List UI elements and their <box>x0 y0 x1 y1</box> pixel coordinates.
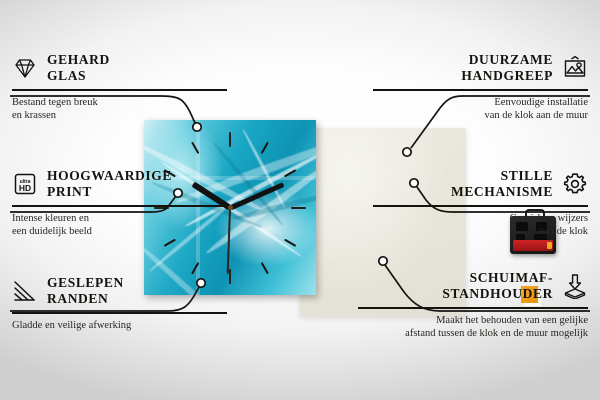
feature-title: GEHARD GLAS <box>47 52 110 84</box>
feature-desc-line2: van de klok <box>373 225 588 239</box>
feature-desc-line1: Bestand tegen breuk <box>12 96 227 110</box>
press-down-pad-icon <box>562 273 588 299</box>
feature-desc-line1: Gladde en veilige afwerking <box>12 319 227 333</box>
diamond-icon <box>12 55 38 81</box>
feature-title-line1: GESLEPEN <box>47 275 124 291</box>
feature-header: GEHARD GLAS <box>12 52 227 84</box>
feature-desc-line1: Eenvoudige installatie <box>373 96 588 110</box>
feature-title-line1: STILLE <box>451 168 553 184</box>
feature-hoogwaardige-print: ultra HD HOOGWAARDIGE PRINT Intense kleu… <box>12 168 227 239</box>
feature-title-line1: SCHUIMAF- <box>442 270 553 286</box>
feature-desc-line2: en krassen <box>12 109 227 123</box>
feature-header: STILLE MECHANISME <box>373 168 588 200</box>
feature-title: SCHUIMAF- STANDHOUDER <box>442 270 553 302</box>
feature-description: Gladde en veilige afwerking <box>12 319 227 333</box>
feature-divider <box>373 205 588 207</box>
feature-header: GESLEPEN RANDEN <box>12 275 227 307</box>
picture-frame-icon <box>562 55 588 81</box>
feature-gehard-glas: GEHARD GLAS Bestand tegen breuk en krass… <box>12 52 227 123</box>
feature-divider <box>12 205 227 207</box>
bevelled-edge-icon <box>12 278 38 304</box>
gear-icon <box>562 171 588 197</box>
feature-title-line2: MECHANISME <box>451 184 553 200</box>
clock-tick <box>230 207 306 209</box>
feature-geslepen-randen: GESLEPEN RANDEN Gladde en veilige afwerk… <box>12 275 227 332</box>
feature-title: DUURZAME HANDGREEP <box>461 52 553 84</box>
feature-header: DUURZAME HANDGREEP <box>373 52 588 84</box>
feature-title-line2: HANDGREEP <box>461 68 553 84</box>
infographic-canvas: GEHARD GLAS Bestand tegen breuk en krass… <box>0 0 600 400</box>
feature-desc-line1: Intense kleuren en <box>12 212 227 226</box>
feature-divider <box>12 89 227 91</box>
feature-title-line2: RANDEN <box>47 291 124 307</box>
feature-description: Geruisloze wijzers van de klok <box>373 212 588 239</box>
feature-stille-mechanisme: STILLE MECHANISME Geruisloze wijzers van… <box>373 168 588 239</box>
feature-divider <box>12 312 227 314</box>
feature-desc-line1: Maakt het behouden van een gelijke <box>358 314 588 328</box>
feature-duurzame-handgreep: DUURZAME HANDGREEP Eenvoudige installati… <box>373 52 588 123</box>
feature-title-line2: PRINT <box>47 184 172 200</box>
ultra-hd-icon: ultra HD <box>12 171 38 197</box>
feature-desc-line2: afstand tussen de klok en de muur mogeli… <box>358 327 588 341</box>
feature-divider <box>358 307 588 309</box>
svg-text:HD: HD <box>19 183 31 193</box>
clock-tick <box>229 132 231 208</box>
feature-description: Maakt het behouden van een gelijke afsta… <box>358 314 588 341</box>
feature-title-line1: GEHARD <box>47 52 110 68</box>
feature-description: Eenvoudige installatie van de klok aan d… <box>373 96 588 123</box>
clock-center-cap <box>228 205 233 210</box>
feature-divider <box>373 89 588 91</box>
feature-title: GESLEPEN RANDEN <box>47 275 124 307</box>
feature-title-line1: HOOGWAARDIGE <box>47 168 172 184</box>
feature-desc-line2: van de klok aan de muur <box>373 109 588 123</box>
feature-description: Bestand tegen breuk en krassen <box>12 96 227 123</box>
feature-title: HOOGWAARDIGE PRINT <box>47 168 172 200</box>
feature-description: Intense kleuren en een duidelijk beeld <box>12 212 227 239</box>
feature-title-line2: STANDHOUDER <box>442 286 553 302</box>
feature-schuimafstandhouder: SCHUIMAF- STANDHOUDER Maakt het behouden… <box>358 270 588 341</box>
feature-header: SCHUIMAF- STANDHOUDER <box>358 270 588 302</box>
feature-title-line1: DUURZAME <box>461 52 553 68</box>
feature-title-line2: GLAS <box>47 68 110 84</box>
feature-desc-line2: een duidelijk beeld <box>12 225 227 239</box>
feature-desc-line1: Geruisloze wijzers <box>373 212 588 226</box>
mechanism-battery <box>513 240 553 251</box>
feature-title: STILLE MECHANISME <box>451 168 553 200</box>
feature-header: ultra HD HOOGWAARDIGE PRINT <box>12 168 227 200</box>
